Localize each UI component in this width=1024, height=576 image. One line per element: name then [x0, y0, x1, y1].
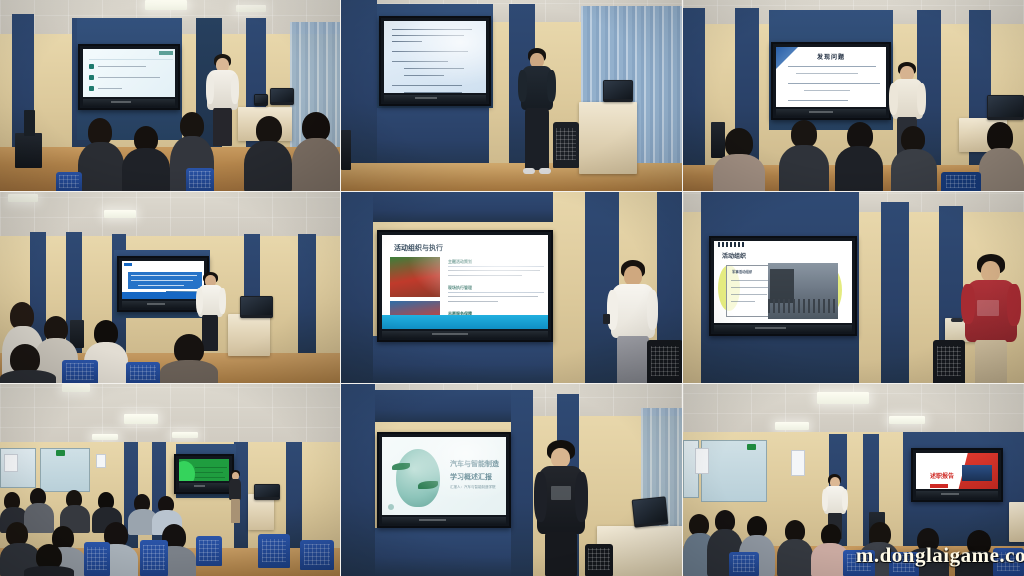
audience-member	[779, 120, 829, 192]
monitor[interactable]	[987, 95, 1024, 120]
collage-cell-middle-center[interactable]: 活动组织与执行 主题活动策划 现场执行管理 志愿服务保障	[341, 192, 683, 384]
laptop[interactable]	[632, 496, 669, 527]
wall-poster	[791, 450, 805, 476]
speaker-cabinet	[15, 133, 42, 168]
wall-poster	[695, 448, 709, 474]
whiteboard-bezel	[916, 491, 998, 498]
interactive-whiteboard[interactable]	[174, 454, 234, 494]
chair	[62, 360, 98, 384]
whiteboard-screen	[384, 21, 486, 93]
chair	[933, 340, 965, 384]
ceiling-light	[92, 434, 118, 440]
chair	[585, 544, 613, 576]
ceiling-light	[889, 416, 925, 424]
whiteboard-bezel	[122, 301, 204, 308]
whiteboard-screen: 活动组织与执行 主题活动策划 现场执行管理 志愿服务保障	[382, 235, 548, 329]
presenter	[963, 254, 1019, 384]
audience-member	[160, 334, 218, 384]
classroom-scene	[341, 0, 682, 191]
exit-sign	[747, 444, 756, 450]
wall-panel	[375, 528, 511, 576]
lectern	[228, 314, 270, 356]
chair	[729, 552, 759, 576]
whiteboard-screen	[122, 261, 204, 299]
ceiling-light	[104, 210, 136, 218]
interactive-whiteboard[interactable]: 活动组织与执行 主题活动策划 现场执行管理 志愿服务保障	[377, 230, 553, 342]
whiteboard-screen	[179, 459, 229, 481]
speaker-cabinet	[341, 130, 351, 170]
chair	[196, 536, 222, 566]
ceiling-light	[172, 432, 198, 438]
whiteboard-bezel	[384, 95, 486, 102]
slide-canvas: 述职报告	[916, 453, 998, 489]
slide-bullet-marker	[89, 75, 94, 80]
presenter	[517, 48, 557, 178]
slide-canvas	[83, 49, 175, 97]
chair	[300, 540, 334, 570]
classroom-scene: 述职报告	[683, 384, 1024, 576]
whiteboard-bezel	[179, 483, 229, 490]
classroom-scene: 活动组织与执行 主题活动策划 现场执行管理 志愿服务保障	[341, 192, 682, 383]
chair	[889, 552, 919, 576]
slide-canvas	[179, 459, 229, 481]
audience-member	[835, 122, 883, 192]
exit-sign	[56, 450, 65, 456]
wall-panel	[373, 336, 553, 384]
audience-member	[122, 126, 170, 192]
lectern	[1009, 502, 1024, 542]
wall-panel	[298, 234, 316, 356]
wall-panel	[341, 384, 375, 576]
interactive-whiteboard[interactable]: 活动组织 军事活动组织	[709, 236, 857, 336]
audience-member	[78, 118, 124, 192]
photo-collage-grid: 发现问题	[0, 0, 1024, 576]
presenter	[228, 470, 242, 524]
slide-title: 活动组织	[722, 251, 746, 260]
ceiling-light	[817, 392, 869, 404]
wall-poster	[96, 454, 106, 468]
audience-member	[24, 544, 74, 576]
audience-member	[713, 128, 765, 192]
ceiling-light	[124, 414, 158, 424]
classroom-scene	[0, 384, 340, 576]
slide-canvas: 发现问题	[776, 47, 886, 107]
interactive-whiteboard[interactable]	[379, 16, 491, 106]
whiteboard-bezel	[382, 331, 548, 338]
chair	[140, 540, 168, 576]
audience-member	[292, 112, 341, 192]
chair	[258, 534, 290, 568]
whiteboard-screen: 汽车与智能制造 学习概述汇报 汇报人：汽车与智能制造学院	[382, 437, 506, 515]
ceiling	[0, 192, 340, 238]
slide-title: 发现问题	[776, 52, 886, 61]
ceiling-light	[236, 5, 266, 12]
classroom-scene: 活动组织 军事活动组织	[683, 192, 1024, 383]
collage-cell-bottom-right[interactable]: 述职报告	[683, 384, 1024, 576]
audience-member	[777, 520, 813, 576]
glass-door[interactable]	[701, 440, 767, 502]
interactive-whiteboard[interactable]: 发现问题	[771, 42, 891, 120]
chair	[84, 542, 110, 576]
chair	[993, 548, 1024, 576]
slide-bullet-marker	[89, 86, 94, 91]
audience-member	[979, 122, 1024, 192]
classroom-scene: 汽车与智能制造 学习概述汇报 汇报人：汽车与智能制造学院	[341, 384, 682, 576]
collage-cell-top-left[interactable]	[0, 0, 341, 192]
wall-panel	[373, 192, 553, 222]
slide-title: 述职报告	[930, 471, 954, 480]
glass-door[interactable]	[40, 448, 90, 492]
interactive-whiteboard[interactable]: 汽车与智能制造 学习概述汇报 汇报人：汽车与智能制造学院	[377, 432, 511, 528]
monitor[interactable]	[603, 80, 633, 102]
classroom-scene: 发现问题	[683, 0, 1024, 191]
chair	[941, 172, 981, 192]
whiteboard-bezel	[83, 99, 175, 106]
wall-panel	[881, 202, 909, 384]
slide-checker-decoration	[718, 242, 746, 247]
remote-clicker	[951, 318, 963, 322]
wall-panel	[341, 192, 373, 384]
ceiling-light	[775, 422, 809, 430]
mic-stand	[24, 110, 35, 136]
ceiling-light	[8, 194, 38, 202]
collage-cell-top-right[interactable]: 发现问题	[683, 0, 1024, 192]
remote-clicker	[603, 314, 610, 324]
audience-member	[244, 116, 292, 192]
slide-canvas	[122, 261, 204, 299]
ceiling-light	[145, 0, 187, 10]
slide-canvas: 汽车与智能制造 学习概述汇报 汇报人：汽车与智能制造学院	[382, 437, 506, 515]
monitor[interactable]	[240, 296, 273, 318]
classroom-scene	[0, 192, 340, 383]
chair	[126, 362, 160, 384]
chair	[56, 172, 82, 192]
slide-building-photo	[962, 465, 992, 481]
slide-canvas: 活动组织与执行 主题活动策划 现场执行管理 志愿服务保障	[382, 235, 548, 329]
interactive-whiteboard[interactable]: 述职报告	[911, 448, 1003, 502]
collage-cell-bottom-center[interactable]: 汽车与智能制造 学习概述汇报 汇报人：汽车与智能制造学院	[341, 384, 683, 576]
ceiling-light	[62, 384, 90, 392]
slide-canvas	[384, 21, 486, 93]
wall-panel	[511, 390, 533, 576]
whiteboard-screen	[83, 49, 175, 97]
whiteboard-screen: 活动组织 军事活动组织	[714, 241, 852, 323]
wall-poster	[4, 454, 18, 472]
chair	[843, 550, 875, 576]
wall-panel	[375, 390, 511, 422]
wall-panel	[683, 8, 705, 168]
monitor[interactable]	[254, 94, 268, 106]
audience-member	[891, 126, 937, 192]
chair	[647, 340, 683, 384]
whiteboard-bezel	[714, 325, 852, 332]
collage-cell-top-center[interactable]	[341, 0, 683, 192]
lectern	[579, 102, 637, 174]
slide-canvas: 活动组织 军事活动组织	[714, 241, 852, 323]
whiteboard-screen: 发现问题	[776, 47, 886, 107]
ceiling	[0, 384, 340, 448]
audience-member	[0, 344, 56, 384]
classroom-scene	[0, 0, 340, 191]
interactive-whiteboard[interactable]	[78, 44, 180, 110]
slide-card-heading: 军事活动组织	[732, 269, 752, 274]
collage-cell-middle-left[interactable]	[0, 192, 341, 384]
monitor[interactable]	[254, 484, 280, 500]
whiteboard-screen: 述职报告	[916, 453, 998, 489]
collage-cell-bottom-left[interactable]	[0, 384, 341, 576]
slide-bullet-marker	[89, 64, 94, 69]
slide-photo	[768, 263, 838, 319]
whiteboard-bezel	[382, 517, 506, 524]
chair	[186, 168, 214, 192]
monitor[interactable]	[270, 88, 294, 105]
presenter	[535, 440, 587, 576]
whiteboard-bezel	[776, 109, 886, 116]
collage-cell-middle-right[interactable]: 活动组织 军事活动组织	[683, 192, 1024, 384]
